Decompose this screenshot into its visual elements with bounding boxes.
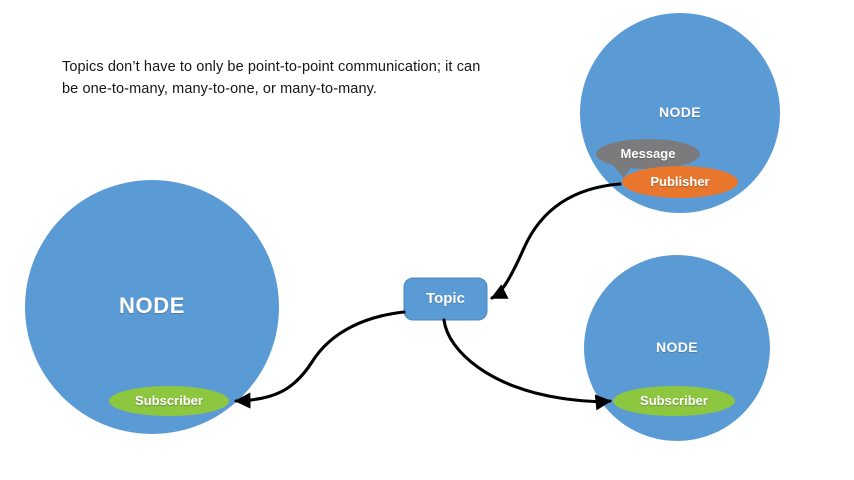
slide-canvas: Topics don’t have to only be point-to-po… bbox=[0, 0, 854, 480]
subscriber-label-bottom-right: Subscriber bbox=[594, 393, 754, 408]
arrow-publisher-to-topic bbox=[492, 184, 620, 298]
message-label: Message bbox=[568, 146, 728, 161]
publisher-label: Publisher bbox=[600, 174, 760, 189]
node-label-top-right: NODE bbox=[580, 104, 780, 120]
topic-label: Topic bbox=[404, 290, 487, 307]
subscriber-label-left: Subscriber bbox=[89, 393, 249, 408]
node-label-left: NODE bbox=[52, 293, 252, 319]
caption-text: Topics don’t have to only be point-to-po… bbox=[62, 56, 482, 100]
node-label-bottom-right: NODE bbox=[577, 339, 777, 355]
